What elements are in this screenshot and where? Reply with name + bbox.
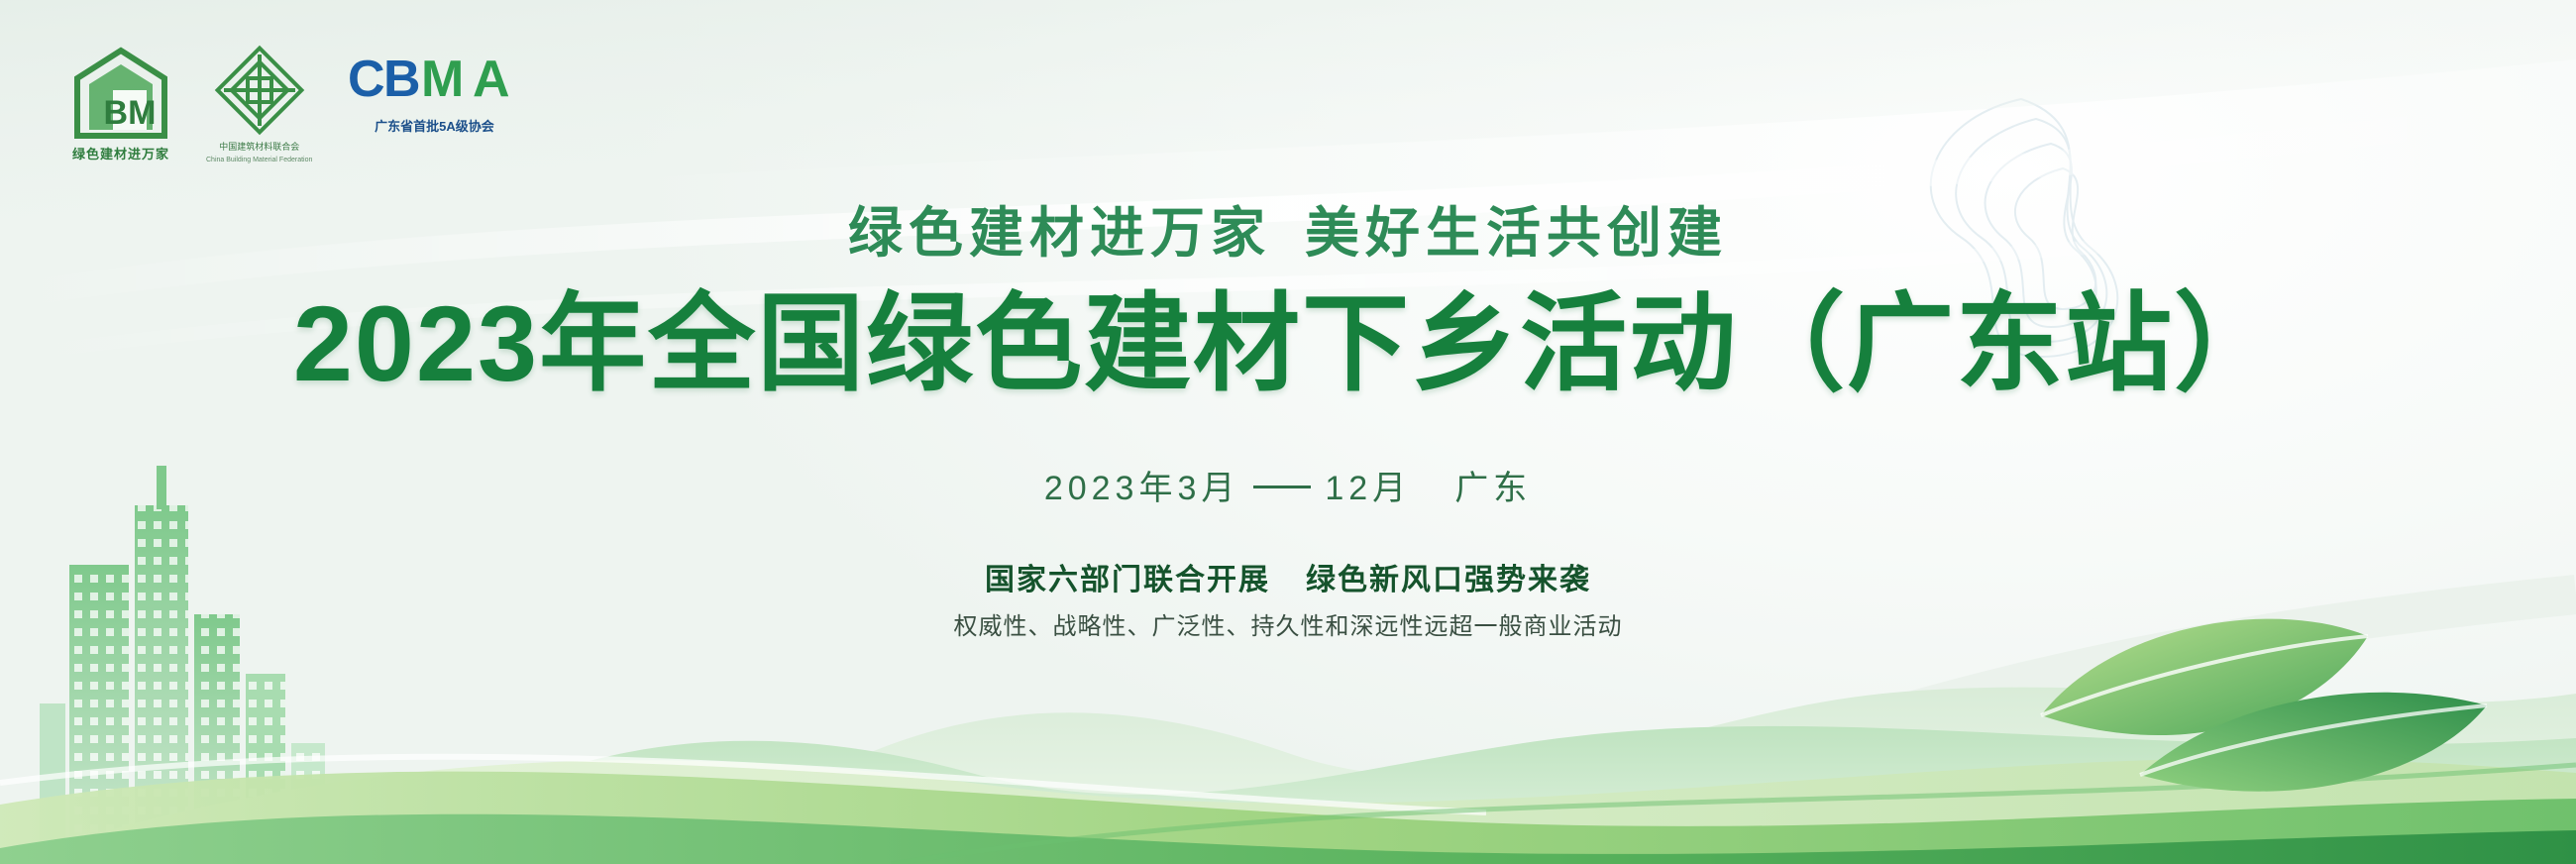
- event-banner: BM 绿色建材进万家 中国建筑材料联合会 China Building Mate…: [0, 0, 2576, 864]
- leaf-icon: [2021, 567, 2517, 824]
